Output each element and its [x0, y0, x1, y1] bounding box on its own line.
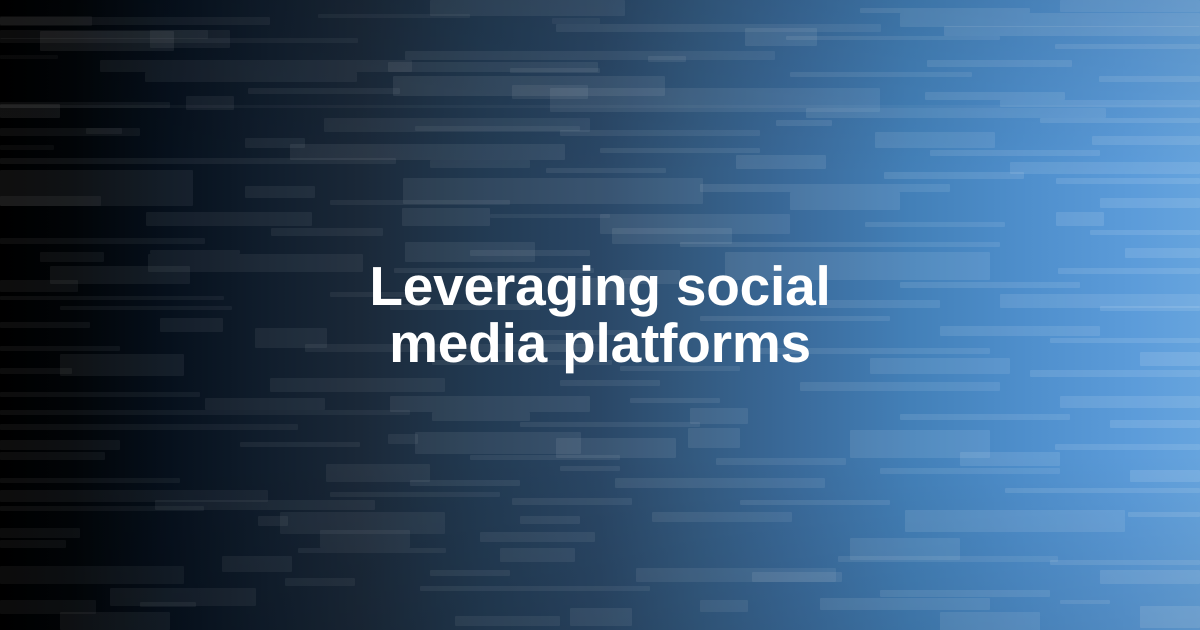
title-container: Leveraging social media platforms [0, 0, 1200, 630]
page-title: Leveraging social media platforms [300, 258, 900, 372]
social-share-banner: Leveraging social media platforms [0, 0, 1200, 630]
